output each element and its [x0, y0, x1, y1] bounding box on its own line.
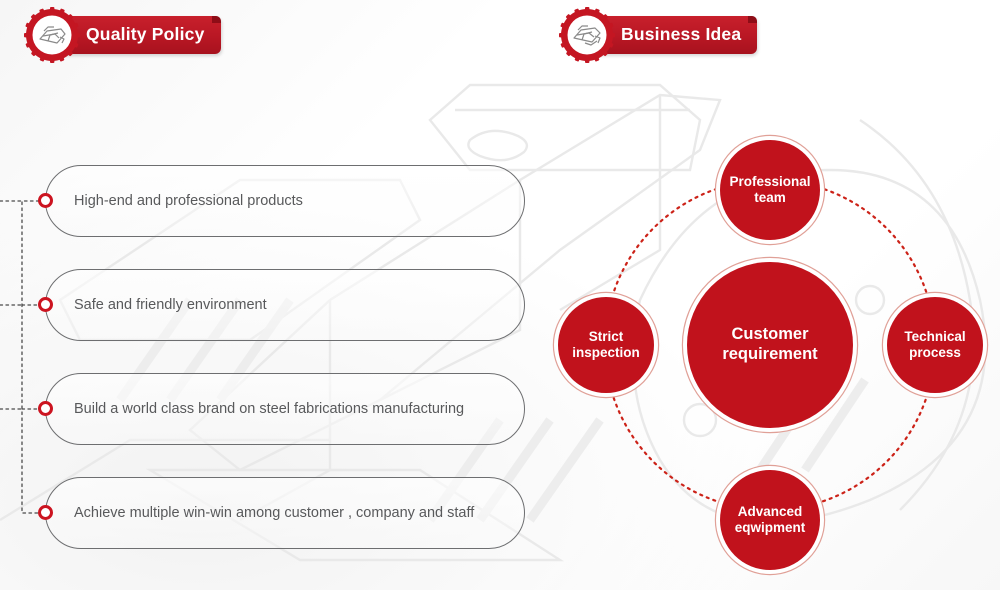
policy-item-label: High-end and professional products — [46, 192, 303, 210]
policy-item-label: Build a world class brand on steel fabri… — [46, 400, 464, 418]
quality-policy-list: High-end and professional products Safe … — [0, 150, 540, 570]
gear-badge-icon — [24, 7, 80, 63]
slide-canvas: Quality Policy — [0, 0, 1000, 590]
bubble-professional-team[interactable]: Professional team — [720, 140, 820, 240]
policy-marker-4 — [38, 505, 53, 520]
policy-marker-2 — [38, 297, 53, 312]
bubble-line-1: Advanced — [735, 504, 806, 520]
bubble-technical-process[interactable]: Technical process — [887, 297, 983, 393]
bubble-strict-inspection[interactable]: Strict inspection — [558, 297, 654, 393]
bubble-line-2: eqwipment — [735, 520, 806, 536]
policy-item-3[interactable]: Build a world class brand on steel fabri… — [45, 373, 525, 445]
bubble-line-1: Strict — [572, 329, 640, 345]
policy-marker-3 — [38, 401, 53, 416]
bubble-line-2: requirement — [722, 345, 817, 365]
bubble-line-2: team — [729, 190, 810, 206]
bubble-advanced-equipment[interactable]: Advanced eqwipment — [720, 470, 820, 570]
policy-item-1[interactable]: High-end and professional products — [45, 165, 525, 237]
policy-item-2[interactable]: Safe and friendly environment — [45, 269, 525, 341]
bubble-line-1: Customer — [722, 325, 817, 345]
bubble-line-2: process — [904, 345, 965, 361]
business-idea-diagram: Customer requirement Professional team T… — [540, 110, 1000, 580]
policy-marker-1 — [38, 193, 53, 208]
bubble-line-1: Technical — [904, 329, 965, 345]
bubble-line-2: inspection — [572, 345, 640, 361]
policy-item-label: Safe and friendly environment — [46, 296, 267, 314]
policy-item-4[interactable]: Achieve multiple win-win among customer … — [45, 477, 525, 549]
bubble-line-1: Professional — [729, 174, 810, 190]
policy-item-label: Achieve multiple win-win among customer … — [46, 504, 474, 522]
gear-badge-icon — [559, 7, 615, 63]
bubble-customer-requirement[interactable]: Customer requirement — [687, 262, 853, 428]
